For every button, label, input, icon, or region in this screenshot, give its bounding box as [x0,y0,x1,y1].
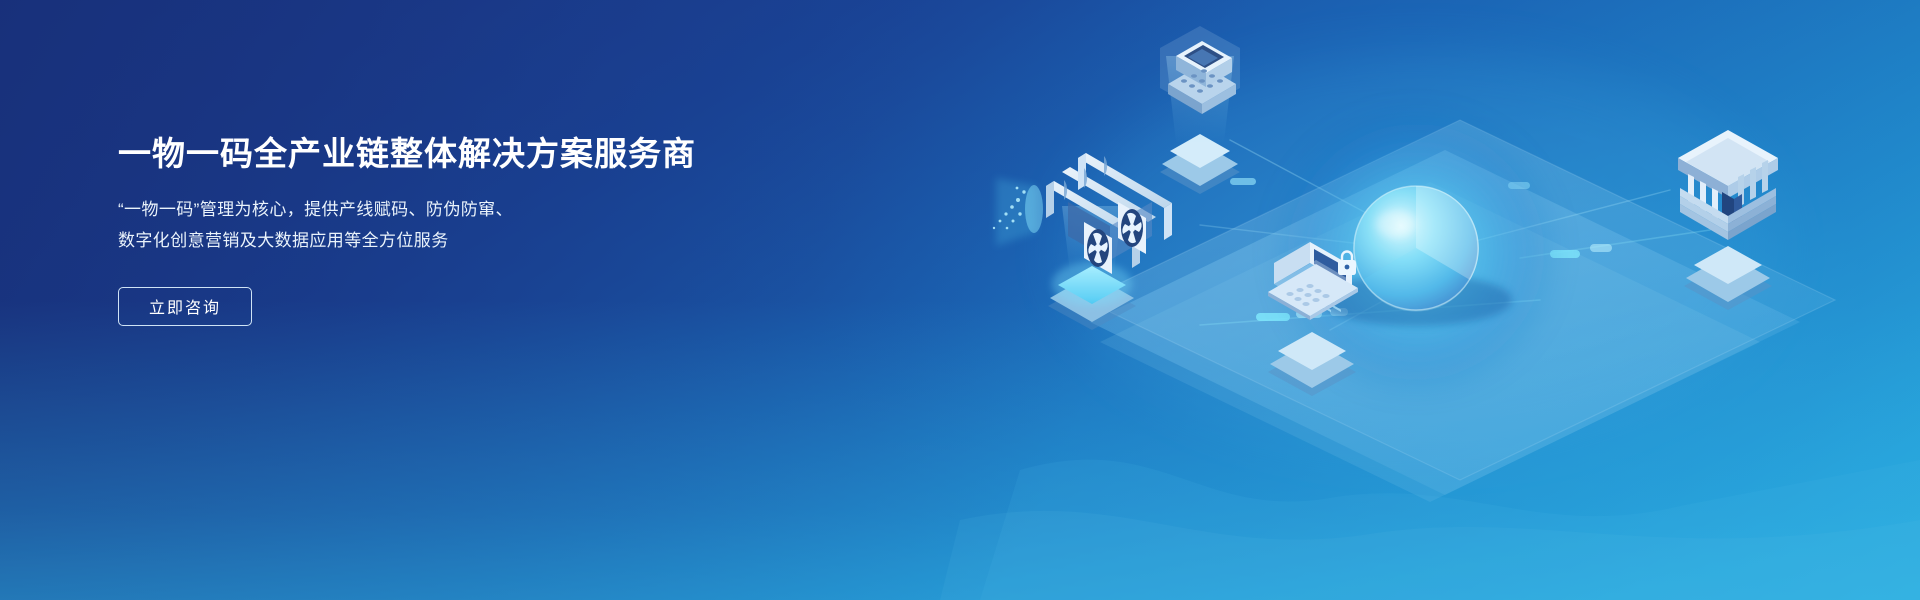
platform-wave-highlight [980,460,1920,600]
pos-terminal-icon [1160,26,1240,114]
isometric-platform [1085,120,1835,502]
fan-icon-1 [1084,222,1112,274]
consult-now-button[interactable]: 立即咨询 [118,287,252,326]
data-emission-cone [993,178,1043,246]
page-title: 一物一码全产业链整体解决方案服务商 [118,134,738,174]
data-packet-indicators [1230,178,1612,321]
padlock-icon [1338,252,1356,276]
hero-copy-block: 一物一码全产业链整体解决方案服务商 “一物一码”管理为核心，提供产线赋码、防伪防… [118,134,738,326]
hero-subtitle-line-2: 数字化创意营销及大数据应用等全方位服务 [118,225,738,256]
background-gradient-overlay-bottom [0,300,1920,600]
core-sphere-node [1266,102,1566,402]
platform-wave-highlight-2 [940,511,1920,600]
hero-subtitle: “一物一码”管理为核心，提供产线赋码、防伪防窜、 数字化创意营销及大数据应用等全… [118,174,738,256]
hero-subtitle-line-1: “一物一码”管理为核心，提供产线赋码、防伪防窜、 [118,194,738,225]
fan-icon-2 [1118,202,1146,254]
connection-lines [1200,140,1710,330]
scene-ambient-glow [1060,50,1780,450]
pedestal-laptop [1268,332,1356,396]
bank-building-icon [1678,130,1778,240]
isometric-network-illustration [900,0,1920,600]
bank-building-node [1678,130,1778,310]
pedestal-bank [1684,246,1772,310]
pedestal-fans [1048,262,1136,330]
laptop-lock-icon [1268,242,1358,320]
server-fan-rack-icon [1046,153,1172,274]
pos-terminal-node [1160,26,1240,194]
laptop-security-node [1268,242,1358,396]
server-fans-node [993,153,1172,330]
pedestal-pos [1160,134,1240,194]
hero-banner: 一物一码全产业链整体解决方案服务商 “一物一码”管理为核心，提供产线赋码、防伪防… [0,0,1920,600]
